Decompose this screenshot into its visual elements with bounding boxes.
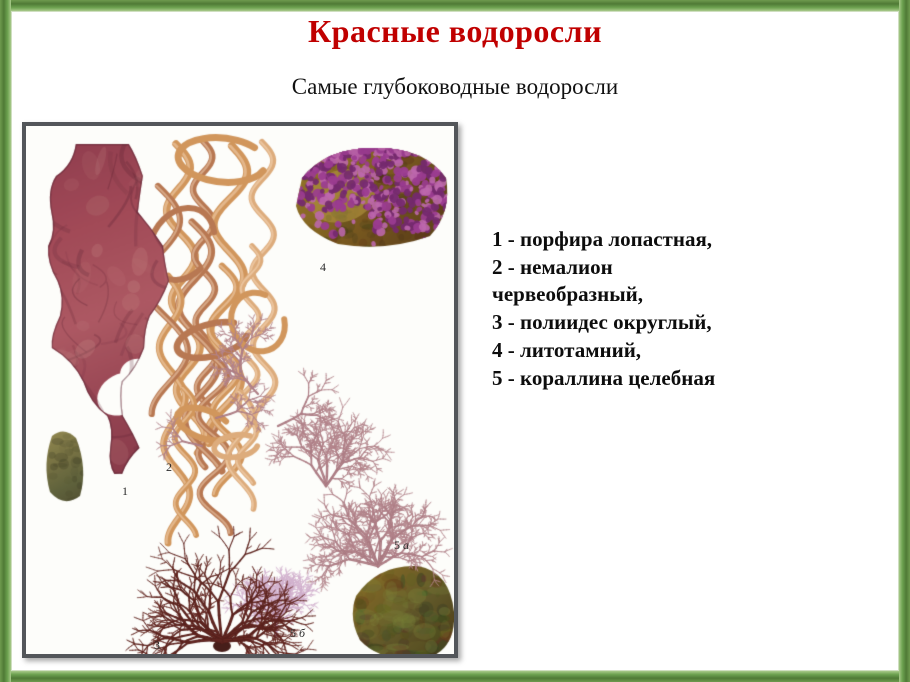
legend-line-2: 2 - немалион bbox=[492, 254, 882, 282]
red-algae-illustration bbox=[26, 126, 454, 654]
slide-subtitle: Самые глубоководные водоросли bbox=[0, 74, 910, 100]
legend-line-6: 5 - кораллина целебная bbox=[492, 365, 882, 393]
legend-line-5: 4 - литотамний, bbox=[492, 337, 882, 365]
figure-label-5б: 5 б bbox=[290, 626, 305, 641]
legend-line-3: червеобразный, bbox=[492, 281, 882, 309]
slide-canvas: Красные водоросли Самые глубоководные во… bbox=[0, 0, 910, 682]
figure-label-2: 2 bbox=[166, 460, 172, 475]
slide-title: Красные водоросли bbox=[0, 14, 910, 49]
figure-label-5а: 5 а bbox=[394, 538, 409, 553]
slide-border-bottom bbox=[0, 671, 910, 682]
figure-label-3: 3 bbox=[154, 638, 160, 653]
illustration-plate: 12345 а5 б bbox=[22, 122, 458, 658]
slide-border-left bbox=[0, 0, 11, 682]
legend-list: 1 - порфира лопастная,2 - немалиончервео… bbox=[492, 226, 882, 392]
slide-border-top bbox=[0, 0, 910, 11]
legend-line-4: 3 - полиидес округлый, bbox=[492, 309, 882, 337]
slide-border-right bbox=[899, 0, 910, 682]
legend-line-1: 1 - порфира лопастная, bbox=[492, 226, 882, 254]
figure-label-1: 1 bbox=[122, 484, 128, 499]
figure-label-4: 4 bbox=[320, 260, 326, 275]
